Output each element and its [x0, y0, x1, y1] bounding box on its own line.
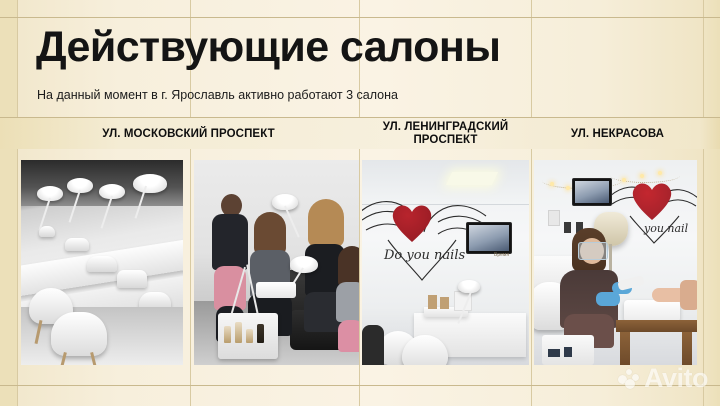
grid-line-vertical-3 [531, 0, 532, 406]
column-header-moskovsky: УЛ. МОСКОВСКИЙ ПРОСПЕКТ [18, 119, 359, 149]
mural-text-do-you-nails: Do you nails [384, 248, 465, 263]
salon-photo-moskovsky-clients [194, 160, 359, 365]
page-title: Действующие салоны [36, 26, 500, 69]
presentation-slide: Действующие салоны На данный момент в г.… [0, 0, 720, 406]
grid-line-horizontal-bottom [0, 385, 720, 386]
grid-line-vertical-right [703, 0, 704, 406]
salon-photo-moskovsky-tables [21, 160, 183, 365]
wall-tv [466, 222, 512, 254]
person-figure [336, 246, 359, 350]
column-header-leningradsky: УЛ. ЛЕНИНГРАДСКИЙ ПРОСПЕКТ [360, 119, 531, 149]
grid-line-vertical-left [17, 0, 18, 406]
salon-photo-leningradsky-room: Do you nails Время [362, 160, 529, 365]
person-figure [558, 228, 620, 348]
mural-text-you-nail: you nail [644, 222, 688, 235]
grid-line-horizontal-top [0, 17, 720, 18]
salon-photo-nekrasova-manicure: you nail [534, 160, 697, 365]
wall-tv [572, 178, 612, 206]
page-subtitle: На данный момент в г. Ярославль активно … [37, 88, 398, 102]
column-header-nekrasova: УЛ. НЕКРАСОВА [532, 119, 703, 149]
